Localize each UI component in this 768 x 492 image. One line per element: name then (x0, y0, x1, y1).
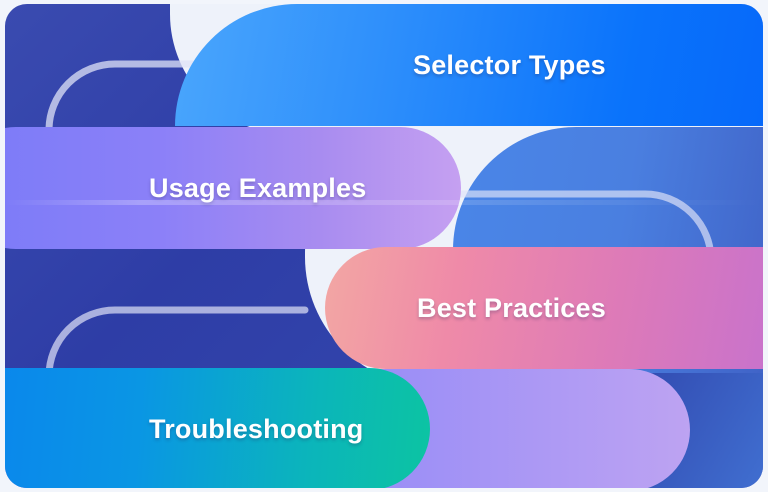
infographic-canvas: Selector Types Usage Examples Best Pract… (0, 0, 768, 492)
topic-label-troubleshooting: Troubleshooting (149, 414, 363, 445)
topic-band-best-practices[interactable]: Best Practices (325, 247, 763, 369)
decorative-sheen-line (5, 200, 763, 205)
topic-label-best-practices: Best Practices (417, 293, 606, 324)
topic-band-troubleshooting[interactable]: Troubleshooting (5, 368, 430, 488)
infographic-plate: Selector Types Usage Examples Best Pract… (5, 4, 763, 488)
topic-band-usage-examples[interactable]: Usage Examples (5, 127, 461, 249)
topic-band-selector-types[interactable]: Selector Types (175, 4, 763, 126)
topic-label-usage-examples: Usage Examples (149, 173, 366, 204)
topic-label-selector-types: Selector Types (413, 50, 606, 81)
